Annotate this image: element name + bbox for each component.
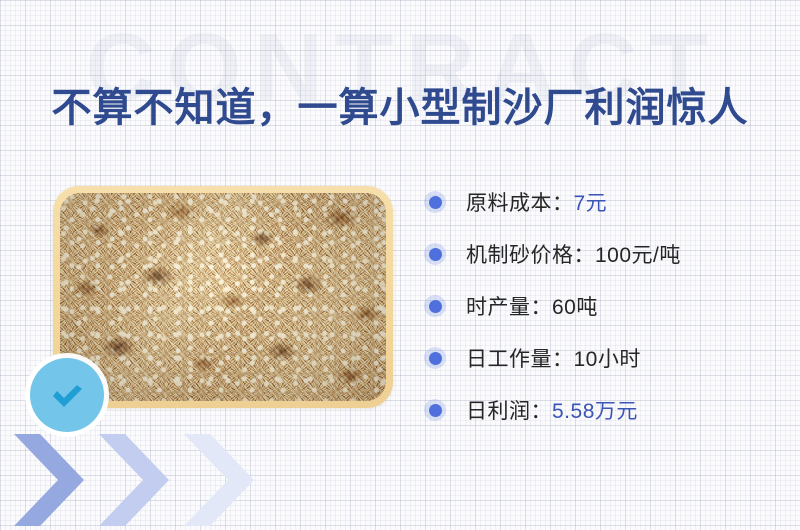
fact-row-daily-worktime: 日工作量：10小时 bbox=[424, 332, 784, 384]
chevron-right-icon-1 bbox=[10, 430, 98, 530]
fact-text: 机制砂价格：100元/吨 bbox=[466, 239, 681, 269]
fact-text: 日利润：5.58万元 bbox=[466, 395, 638, 425]
fact-row-sand-price: 机制砂价格：100元/吨 bbox=[424, 228, 784, 280]
bullet-icon bbox=[424, 399, 446, 421]
fact-text: 日工作量：10小时 bbox=[466, 343, 641, 373]
fact-row-material-cost: 原料成本：7元 bbox=[424, 176, 784, 228]
fact-value: 10小时 bbox=[574, 348, 641, 371]
chevron-right-icon-3 bbox=[180, 430, 268, 530]
fact-text: 时产量：60吨 bbox=[466, 291, 598, 321]
fact-list: 原料成本：7元 机制砂价格：100元/吨 时产量：60吨 日工作量：10小时 日… bbox=[424, 176, 784, 436]
fact-label: 日工作量： bbox=[466, 348, 574, 371]
page-title: 不算不知道，一算小型制沙厂利润惊人 bbox=[0, 75, 800, 133]
fact-row-hourly-output: 时产量：60吨 bbox=[424, 280, 784, 332]
fact-text: 原料成本：7元 bbox=[466, 187, 607, 217]
fact-value: 7元 bbox=[574, 192, 608, 215]
sand-photo-image bbox=[60, 193, 386, 401]
bullet-icon bbox=[424, 191, 446, 213]
sand-photo-frame bbox=[53, 186, 393, 408]
poster-canvas: CONTRACT 不算不知道，一算小型制沙厂利润惊人 原料成本：7元 机制 bbox=[0, 0, 800, 530]
fact-label: 机制砂价格： bbox=[466, 244, 595, 267]
fact-value: 100元/吨 bbox=[595, 244, 681, 267]
fact-label: 时产量： bbox=[466, 296, 552, 319]
fact-value: 5.58万元 bbox=[552, 400, 638, 423]
fact-label: 日利润： bbox=[466, 400, 552, 423]
sand-photo-vignette bbox=[60, 193, 386, 401]
bullet-icon bbox=[424, 347, 446, 369]
chevron-right-icon-2 bbox=[95, 430, 183, 530]
bullet-icon bbox=[424, 295, 446, 317]
fact-label: 原料成本： bbox=[466, 192, 574, 215]
check-badge bbox=[30, 358, 104, 432]
check-icon bbox=[45, 373, 89, 417]
fact-value: 60吨 bbox=[552, 296, 598, 319]
bullet-icon bbox=[424, 243, 446, 265]
fact-row-daily-profit: 日利润：5.58万元 bbox=[424, 384, 784, 436]
